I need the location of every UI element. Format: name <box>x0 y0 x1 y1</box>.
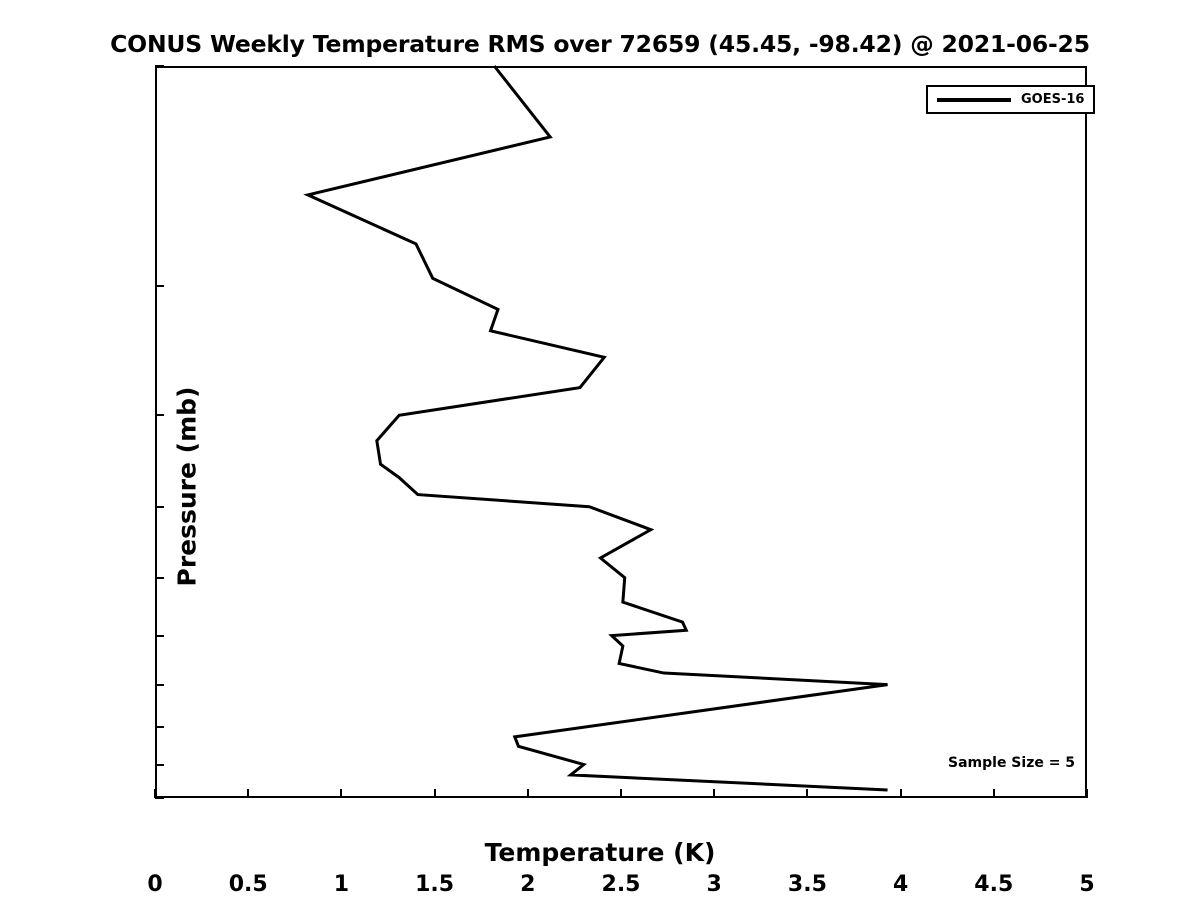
x-tick-mark <box>247 789 249 798</box>
legend-entry-goes-16: GOES-16 <box>1021 92 1084 107</box>
chart-title: CONUS Weekly Temperature RMS over 72659 … <box>0 30 1200 58</box>
x-tick-label: 5 <box>1079 872 1094 897</box>
x-tick-label: 0 <box>147 872 162 897</box>
x-tick-mark <box>806 789 808 798</box>
x-tick-label: 2 <box>520 872 535 897</box>
x-tick-label: 0.5 <box>229 872 268 897</box>
sample-size-annotation: Sample Size = 5 <box>948 755 1075 771</box>
y-tick-mark <box>155 65 164 67</box>
y-tick-mark <box>155 684 164 686</box>
plot-area: Pressure (mb) GOES-16 Sample Size = 5 10… <box>155 66 1087 798</box>
chart-canvas: CONUS Weekly Temperature RMS over 72659 … <box>0 0 1200 900</box>
y-tick-mark <box>155 414 164 416</box>
x-tick-label: 3 <box>707 872 722 897</box>
legend-line-swatch <box>937 98 1011 102</box>
y-tick-mark <box>155 577 164 579</box>
x-tick-mark <box>620 789 622 798</box>
y-axis-label: Pressure (mb) <box>173 121 202 853</box>
x-tick-label: 1.5 <box>415 872 454 897</box>
x-tick-mark <box>527 789 529 798</box>
y-tick-mark <box>155 285 164 287</box>
x-tick-mark <box>900 789 902 798</box>
x-tick-label: 3.5 <box>788 872 827 897</box>
x-tick-mark <box>1086 789 1088 798</box>
legend: GOES-16 <box>926 85 1095 114</box>
y-tick-mark <box>155 797 164 799</box>
series-line-goes-16 <box>308 66 888 790</box>
y-tick-mark <box>155 726 164 728</box>
y-tick-mark <box>155 764 164 766</box>
series-plot <box>155 66 1087 798</box>
x-tick-mark <box>713 789 715 798</box>
y-tick-mark <box>155 635 164 637</box>
y-tick-mark <box>155 506 164 508</box>
x-tick-label: 4 <box>893 872 908 897</box>
x-tick-mark <box>340 789 342 798</box>
x-tick-label: 1 <box>334 872 349 897</box>
x-tick-mark <box>434 789 436 798</box>
x-tick-mark <box>154 789 156 798</box>
x-tick-label: 2.5 <box>602 872 641 897</box>
x-tick-mark <box>993 789 995 798</box>
x-axis-label: Temperature (K) <box>0 838 1200 867</box>
x-tick-label: 4.5 <box>974 872 1013 897</box>
